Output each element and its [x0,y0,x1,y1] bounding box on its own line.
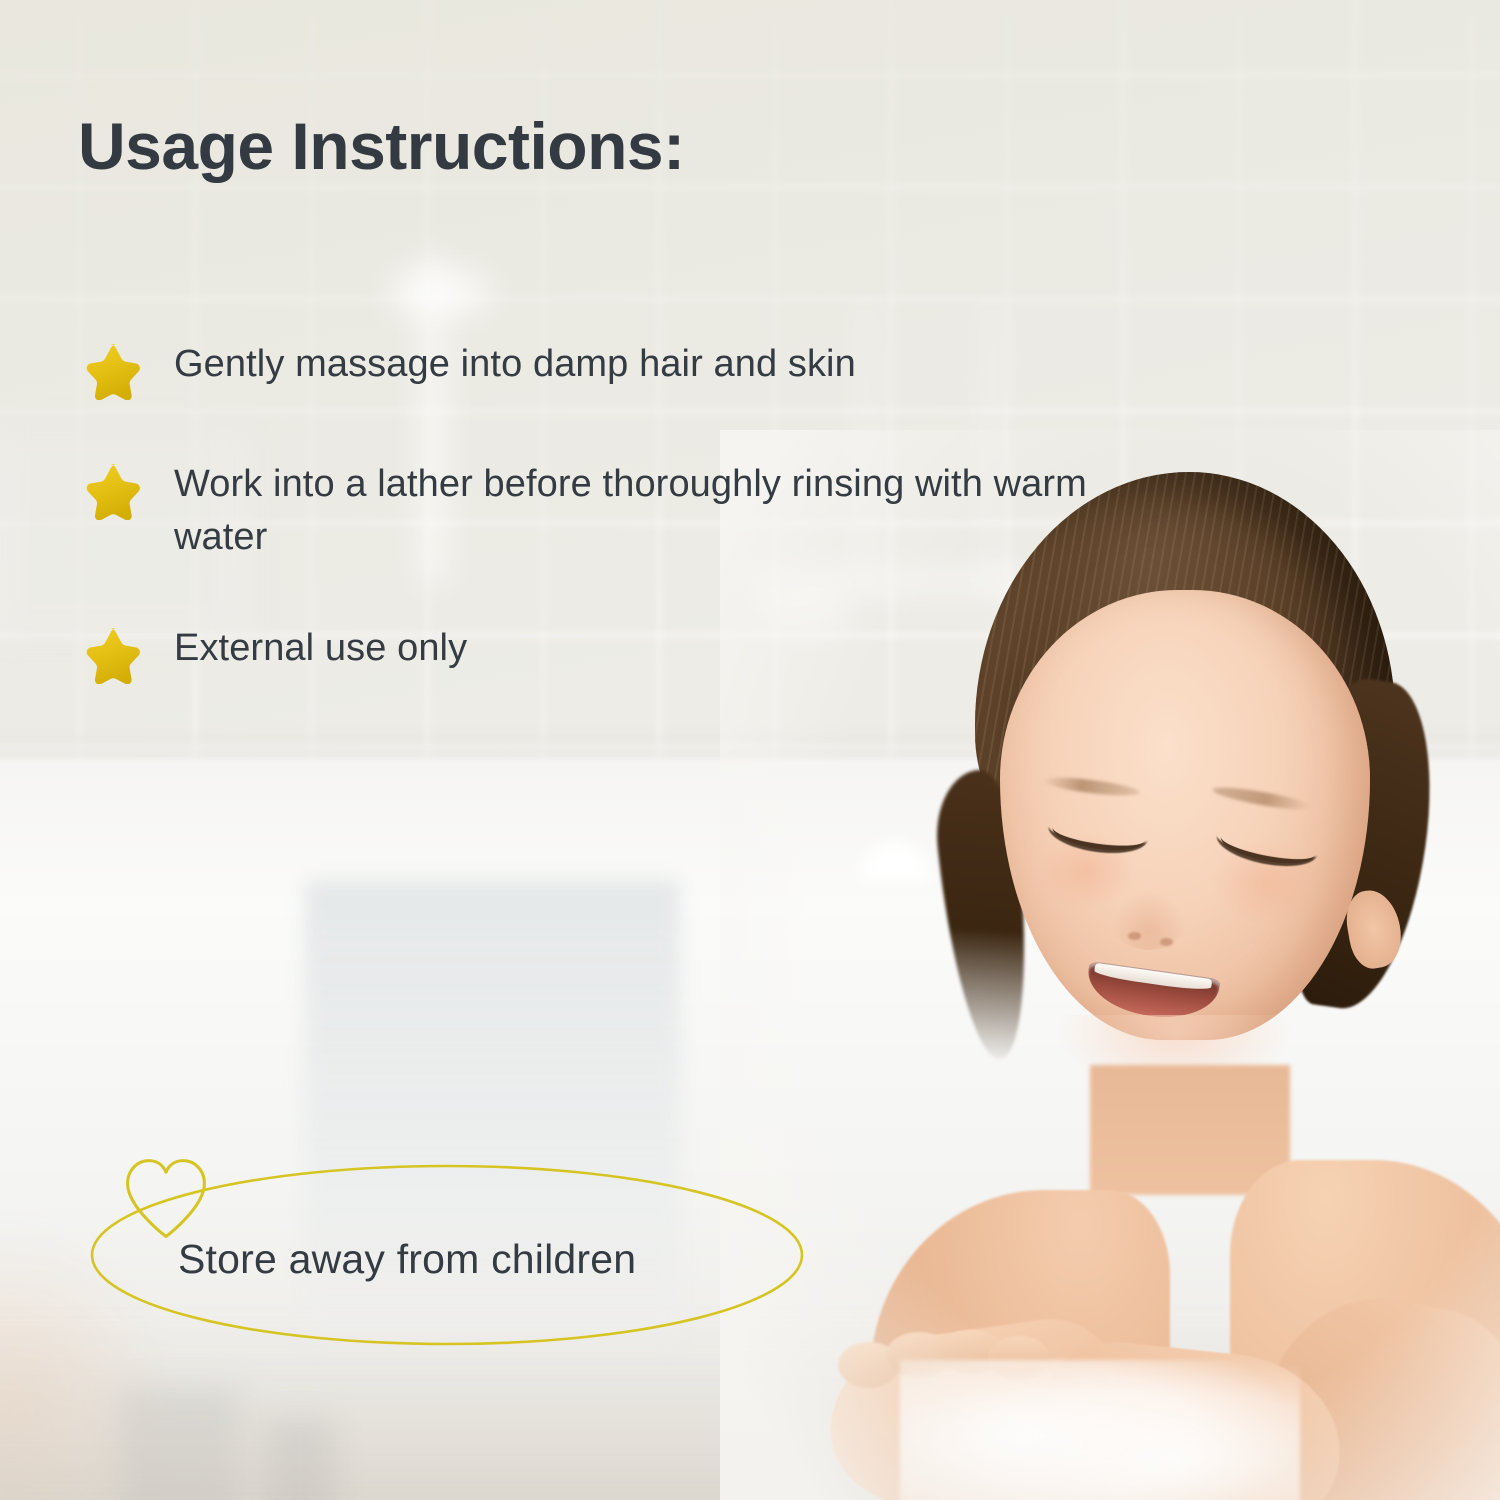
callout-label: Store away from children [178,1236,636,1283]
list-item: External use only [80,622,1110,684]
page-title: Usage Instructions: [78,108,685,184]
heart-icon [118,1152,214,1248]
list-item-label: External use only [174,622,467,675]
instructions-list: Gently massage into damp hair and skin W… [80,338,1110,684]
list-item: Work into a lather before thoroughly rin… [80,458,1110,564]
list-item: Gently massage into damp hair and skin [80,338,1110,400]
usage-instructions-panel: Usage Instructions: [0,0,1500,1500]
list-item-label: Gently massage into damp hair and skin [174,338,856,391]
store-away-callout: Store away from children [88,1162,806,1348]
star-icon [80,624,140,684]
content-overlay: Usage Instructions: [0,0,1500,1500]
list-item-label: Work into a lather before thoroughly rin… [174,458,1104,564]
star-icon [80,340,140,400]
star-icon [80,460,140,520]
